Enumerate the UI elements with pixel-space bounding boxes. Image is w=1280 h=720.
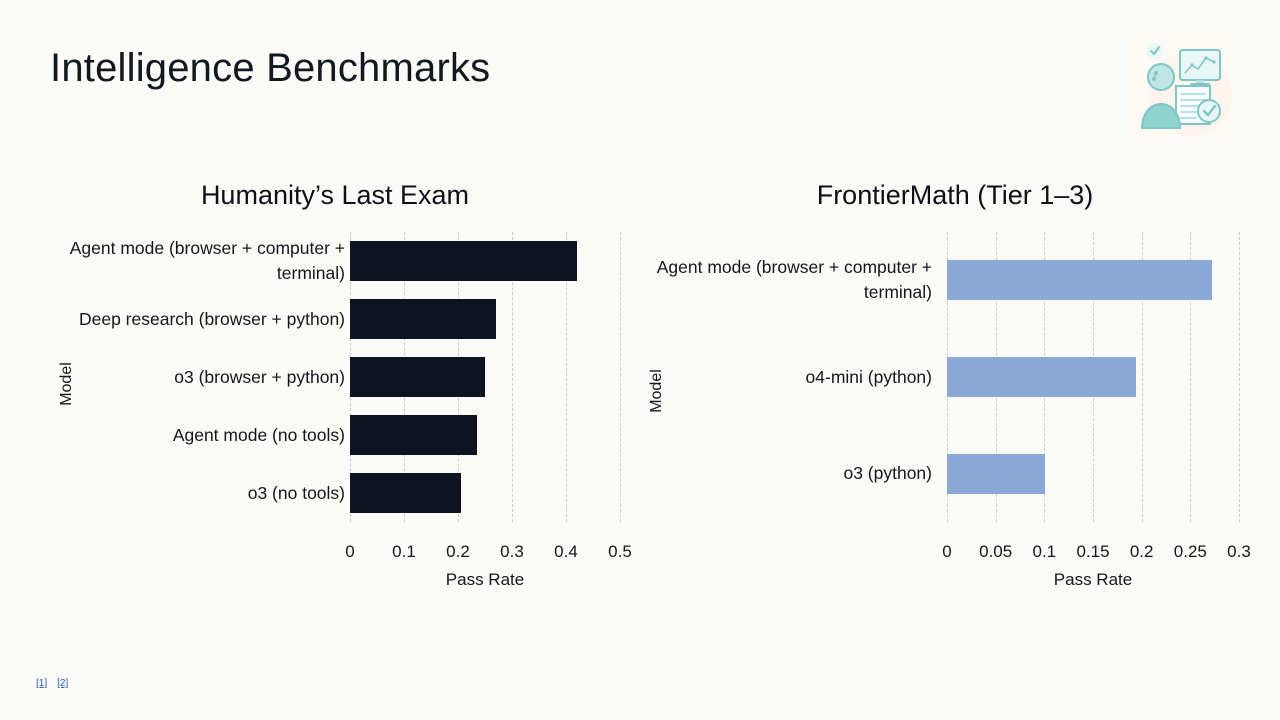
bar: [947, 454, 1045, 494]
category-label: Deep research (browser + python): [60, 307, 345, 332]
chart-panel-humanitys-last-exam: Humanity’s Last Exam Model 00.10.20.30.4…: [30, 160, 640, 620]
plot-area: [350, 232, 620, 522]
x-axis-title: Pass Rate: [350, 570, 620, 590]
x-tick-label: 0.3: [1227, 542, 1251, 562]
x-tick-label: 0.15: [1076, 542, 1109, 562]
x-tick-label: 0.05: [979, 542, 1012, 562]
analytics-person-illustration: [1128, 32, 1234, 140]
category-label: Agent mode (browser + computer + termina…: [60, 236, 345, 286]
x-axis-title: Pass Rate: [947, 570, 1239, 590]
x-tick-label: 0.1: [1033, 542, 1057, 562]
bar: [350, 415, 477, 455]
x-axis-ticks: 00.10.20.30.40.5: [350, 542, 620, 564]
category-label: Agent mode (no tools): [60, 423, 345, 448]
slide-root: Intelligence Benchmarks: [0, 0, 1280, 720]
bar: [947, 357, 1136, 397]
category-label: o3 (python): [650, 461, 932, 486]
category-label: Agent mode (browser + computer + termina…: [650, 255, 932, 305]
x-tick-label: 0.4: [554, 542, 578, 562]
x-axis-ticks: 00.050.10.150.20.250.3: [947, 542, 1239, 564]
footnotes: [1][2]: [36, 678, 68, 689]
charts-container: Humanity’s Last Exam Model 00.10.20.30.4…: [0, 160, 1280, 620]
plot-area: [947, 232, 1239, 522]
y-axis-title: Model: [648, 346, 666, 436]
category-label: o3 (no tools): [60, 481, 345, 506]
footnote-link[interactable]: [1]: [36, 678, 47, 689]
bar: [350, 241, 577, 281]
gridline: [620, 232, 621, 522]
x-tick-label: 0.3: [500, 542, 524, 562]
bar: [947, 260, 1212, 300]
footnote-link[interactable]: [2]: [57, 678, 68, 689]
category-label: o4-mini (python): [650, 365, 932, 390]
gridline: [1239, 232, 1240, 522]
x-tick-label: 0.1: [392, 542, 416, 562]
x-tick-label: 0: [345, 542, 354, 562]
x-tick-label: 0.5: [608, 542, 632, 562]
bar: [350, 299, 496, 339]
chart-panel-frontiermath: FrontierMath (Tier 1–3) Model 00.050.10.…: [650, 160, 1260, 620]
bar: [350, 473, 461, 513]
x-tick-label: 0.2: [446, 542, 470, 562]
bar: [350, 357, 485, 397]
x-tick-label: 0.2: [1130, 542, 1154, 562]
x-tick-label: 0.25: [1174, 542, 1207, 562]
category-label: o3 (browser + python): [60, 365, 345, 390]
chart-title: FrontierMath (Tier 1–3): [650, 180, 1260, 211]
chart-title: Humanity’s Last Exam: [30, 180, 640, 211]
x-tick-label: 0: [942, 542, 951, 562]
page-title: Intelligence Benchmarks: [50, 46, 490, 91]
